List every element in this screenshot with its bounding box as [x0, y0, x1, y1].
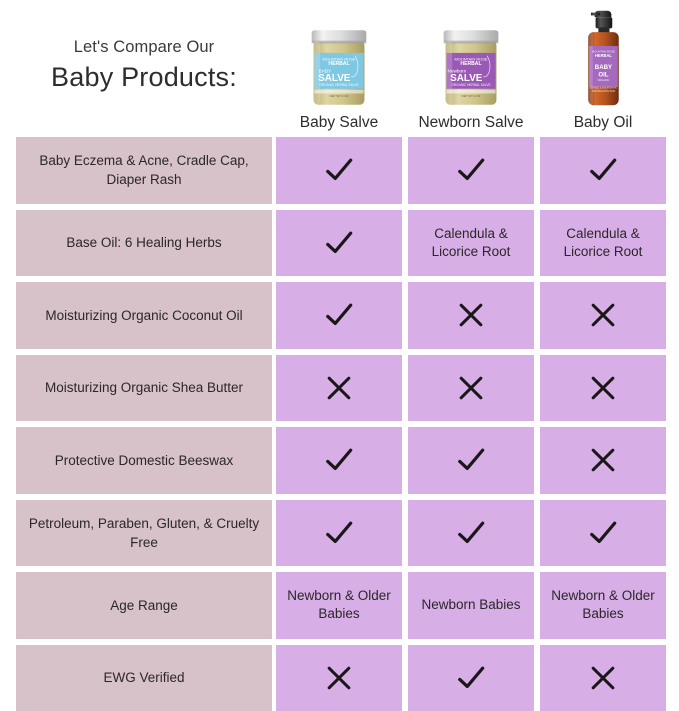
- cross-icon: [324, 663, 354, 693]
- check-icon: [324, 300, 354, 330]
- column-header-label-newborn_salve: Newborn Salve: [408, 113, 534, 133]
- check-icon: [324, 445, 354, 475]
- check-icon: [456, 518, 486, 548]
- cell-check-icon: [408, 427, 534, 494]
- product-header-baby_salve: MOUNTAIN ROSEHERBALBABYSALVEORGANIC HERB…: [276, 0, 402, 137]
- chart-header: Let's Compare Our Baby Products: MOUNTAI…: [0, 0, 679, 137]
- comparison-chart-page: Let's Compare Our Baby Products: MOUNTAI…: [0, 0, 679, 679]
- row-label: Base Oil: 6 Healing Herbs: [16, 210, 272, 277]
- cell-check-icon: [276, 427, 402, 494]
- svg-text:BABY: BABY: [595, 64, 612, 71]
- cell-text: Newborn Babies: [408, 572, 534, 639]
- svg-text:NET WT 2 OZ: NET WT 2 OZ: [330, 94, 349, 98]
- cross-icon: [588, 663, 618, 693]
- row-label: Moisturizing Organic Coconut Oil: [16, 282, 272, 349]
- svg-text:GENTLE & NOURISHING: GENTLE & NOURISHING: [590, 87, 618, 90]
- check-icon: [588, 155, 618, 185]
- cell-cross-icon: [540, 282, 666, 349]
- title-mainline: Baby Products:: [16, 60, 272, 94]
- cross-icon: [588, 300, 618, 330]
- row-label: Protective Domestic Beeswax: [16, 427, 272, 494]
- cell-cross-icon: [276, 645, 402, 711]
- column-header-label-baby_salve: Baby Salve: [276, 113, 402, 133]
- cell-cross-icon: [276, 355, 402, 422]
- cell-cross-icon: [540, 427, 666, 494]
- cell-cross-icon: [540, 645, 666, 711]
- svg-text:HERBAL: HERBAL: [460, 61, 481, 67]
- cross-icon: [588, 373, 618, 403]
- cell-text: Newborn & Older Babies: [540, 572, 666, 639]
- check-icon: [456, 155, 486, 185]
- cell-check-icon: [408, 500, 534, 567]
- cell-check-icon: [540, 137, 666, 204]
- cell-text: Newborn & Older Babies: [276, 572, 402, 639]
- svg-text:HERBAL: HERBAL: [595, 53, 612, 58]
- cross-icon: [324, 373, 354, 403]
- cross-icon: [588, 445, 618, 475]
- jar-newborn-salve-image: MOUNTAIN ROSEHERBALNewbornSALVEORGANIC H…: [408, 7, 534, 109]
- cell-cross-icon: [408, 355, 534, 422]
- check-icon: [324, 155, 354, 185]
- check-icon: [456, 445, 486, 475]
- row-label: EWG Verified: [16, 645, 272, 711]
- check-icon: [324, 518, 354, 548]
- cell-cross-icon: [540, 355, 666, 422]
- page-title: Let's Compare Our Baby Products:: [16, 36, 272, 94]
- product-header-baby_oil: MOUNTAIN ROSEHERBALBABYOILORGANICGENTLE …: [540, 0, 666, 137]
- cell-check-icon: [408, 137, 534, 204]
- svg-text:NET WT 2 OZ: NET WT 2 OZ: [462, 94, 481, 98]
- check-icon: [588, 518, 618, 548]
- jar-baby-salve-image: MOUNTAIN ROSEHERBALBABYSALVEORGANIC HERB…: [276, 7, 402, 109]
- check-icon: [456, 663, 486, 693]
- cell-text: Calendula & Licorice Root: [540, 210, 666, 277]
- svg-text:ORGANIC HERBAL SALVE: ORGANIC HERBAL SALVE: [319, 83, 358, 87]
- svg-text:HERBAL: HERBAL: [328, 61, 349, 67]
- svg-text:ORGANIC: ORGANIC: [597, 78, 609, 82]
- cell-check-icon: [276, 210, 402, 277]
- cell-check-icon: [276, 137, 402, 204]
- row-label: Petroleum, Paraben, Gluten, & Cruelty Fr…: [16, 500, 272, 567]
- row-label: Age Range: [16, 572, 272, 639]
- svg-text:ORGANIC HERBAL SALVE: ORGANIC HERBAL SALVE: [451, 83, 490, 87]
- comparison-table: Baby Eczema & Acne, Cradle Cap, Diaper R…: [0, 137, 679, 669]
- cross-icon: [456, 373, 486, 403]
- svg-text:OIL: OIL: [598, 72, 608, 79]
- svg-text:FOR DELICATE SKIN: FOR DELICATE SKIN: [592, 90, 616, 93]
- row-label: Moisturizing Organic Shea Butter: [16, 355, 272, 422]
- product-header-newborn_salve: MOUNTAIN ROSEHERBALNewbornSALVEORGANIC H…: [408, 0, 534, 137]
- column-header-label-baby_oil: Baby Oil: [540, 113, 666, 133]
- cell-cross-icon: [408, 282, 534, 349]
- cell-check-icon: [540, 500, 666, 567]
- cell-check-icon: [276, 500, 402, 567]
- cell-check-icon: [408, 645, 534, 711]
- row-label: Baby Eczema & Acne, Cradle Cap, Diaper R…: [16, 137, 272, 204]
- cell-text: Calendula & Licorice Root: [408, 210, 534, 277]
- check-icon: [324, 228, 354, 258]
- title-subline: Let's Compare Our: [16, 36, 272, 58]
- cell-check-icon: [276, 282, 402, 349]
- bottle-baby-oil-image: MOUNTAIN ROSEHERBALBABYOILORGANICGENTLE …: [540, 7, 666, 109]
- cross-icon: [456, 300, 486, 330]
